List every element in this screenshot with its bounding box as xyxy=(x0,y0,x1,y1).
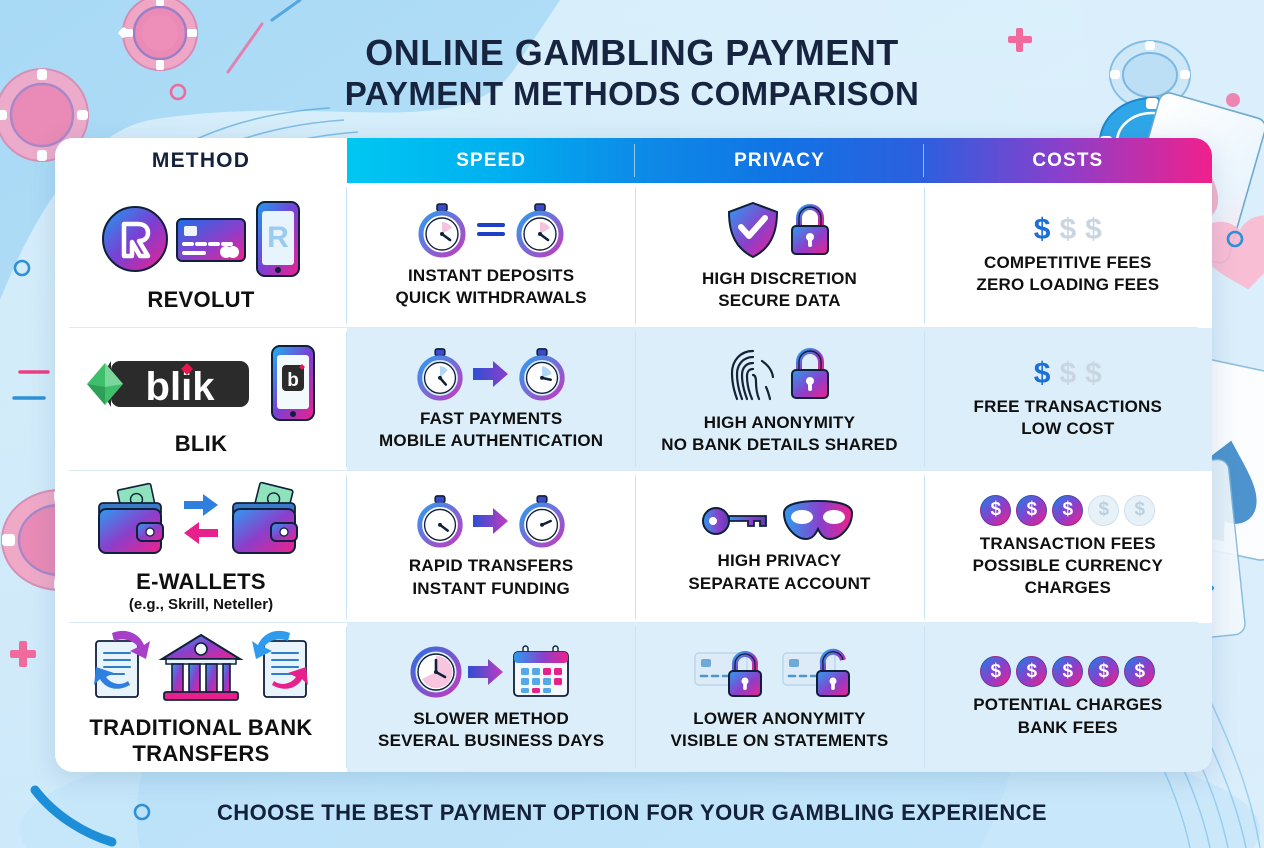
shield-check-icon xyxy=(724,199,782,261)
costs-cell-ewallets: $ $ $ $ $ TRANSACTION FEES POSSIBLE CURR… xyxy=(924,471,1212,623)
privacy-cell-bank-transfers: LOWER ANONYMITY VISIBLE ON STATEMENTS xyxy=(635,623,923,772)
padlock-icon xyxy=(786,344,834,404)
calendar-icon xyxy=(510,643,572,701)
title-line-2: PAYMENT METHODS COMPARISON xyxy=(0,74,1264,114)
privacy-icon-group xyxy=(693,643,865,701)
comparison-table: METHOD SPEED PRIVACY COSTS xyxy=(55,138,1212,772)
stopwatch-icon xyxy=(515,347,569,401)
speed-cell-bank-transfers: SLOWER METHOD SEVERAL BUSINESS DAYS xyxy=(347,623,635,772)
smartphone-icon: b xyxy=(269,343,317,423)
speed-line: SLOWER METHOD xyxy=(378,708,604,730)
dollar-sign-empty: $ xyxy=(1059,359,1076,389)
svg-text:R: R xyxy=(267,221,289,254)
costs-line: BANK FEES xyxy=(973,717,1162,739)
speed-text: SLOWER METHOD SEVERAL BUSINESS DAYS xyxy=(378,708,604,752)
privacy-cell-blik: HIGH ANONYMITY NO BANK DETAILS SHARED xyxy=(635,328,923,471)
costs-text: TRANSACTION FEES POSSIBLE CURRENCY CHARG… xyxy=(973,533,1163,599)
ewallet-icon-group xyxy=(91,481,311,561)
privacy-line: HIGH ANONYMITY xyxy=(661,412,897,434)
arrow-right-icon xyxy=(466,655,506,689)
dollar-sign-filled: $ xyxy=(1034,215,1051,245)
costs-line: POSSIBLE CURRENCY xyxy=(973,555,1163,577)
method-cell-blik: blik b BLIK xyxy=(55,328,347,471)
coin-empty: $ xyxy=(1088,495,1119,526)
speed-cell-revolut: INSTANT DEPOSITS QUICK WITHDRAWALS xyxy=(347,183,635,328)
method-subtitle: (e.g., Skrill, Neteller) xyxy=(129,596,273,613)
method-name: E-WALLETS xyxy=(136,569,266,595)
costs-line: TRANSACTION FEES xyxy=(973,533,1163,555)
arrow-right-icon xyxy=(471,504,511,538)
method-name: TRADITIONAL BANK TRANSFERS xyxy=(55,715,347,767)
fingerprint-icon xyxy=(724,343,782,405)
speed-icon-group xyxy=(413,494,569,548)
privacy-line: VISIBLE ON STATEMENTS xyxy=(671,730,889,752)
coin-empty: $ xyxy=(1124,495,1155,526)
revolut-logo-icon xyxy=(100,204,170,274)
stopwatch-icon xyxy=(515,494,569,548)
costs-text: POTENTIAL CHARGES BANK FEES xyxy=(973,694,1162,738)
title-line-1: ONLINE GAMBLING PAYMENT xyxy=(0,32,1264,74)
stopwatch-icon xyxy=(413,494,467,548)
costs-line: ZERO LOADING FEES xyxy=(976,274,1159,296)
speed-cell-blik: FAST PAYMENTS MOBILE AUTHENTICATION xyxy=(347,328,635,471)
method-cell-bank-transfers: TRADITIONAL BANK TRANSFERS xyxy=(55,623,347,772)
speed-line: INSTANT FUNDING xyxy=(409,578,574,600)
card-unlocked-icon xyxy=(781,643,865,701)
coin-filled: $ xyxy=(1088,656,1119,687)
svg-text:blik: blik xyxy=(146,365,216,409)
blik-icon-group: blik b xyxy=(85,343,317,423)
privacy-text: HIGH ANONYMITY NO BANK DETAILS SHARED xyxy=(661,412,897,456)
speed-text: INSTANT DEPOSITS QUICK WITHDRAWALS xyxy=(395,265,586,309)
costs-line: COMPETITIVE FEES xyxy=(976,252,1159,274)
speed-line: SEVERAL BUSINESS DAYS xyxy=(378,730,604,752)
bank-building-icon xyxy=(158,629,244,707)
dollar-sign-empty: $ xyxy=(1059,215,1076,245)
privacy-text: HIGH PRIVACY SEPARATE ACCOUNT xyxy=(688,550,870,594)
revolut-icon-group: R xyxy=(100,199,302,279)
privacy-icon-group xyxy=(724,343,834,405)
costs-text: FREE TRANSACTIONS LOW COST xyxy=(974,396,1163,440)
costs-cell-blik: $ $ $ FREE TRANSACTIONS LOW COST xyxy=(924,328,1212,471)
privacy-line: HIGH PRIVACY xyxy=(688,550,870,572)
clock-icon xyxy=(410,646,462,698)
coin-filled: $ xyxy=(1124,656,1155,687)
table-row: blik b BLIK xyxy=(55,328,1212,471)
costs-line: CHARGES xyxy=(973,577,1163,599)
privacy-cell-revolut: HIGH DISCRETION SECURE DATA xyxy=(635,183,923,328)
costs-line: POTENTIAL CHARGES xyxy=(973,694,1162,716)
coin-filled: $ xyxy=(980,495,1011,526)
padlock-icon xyxy=(786,200,834,260)
column-header-speed: SPEED xyxy=(347,138,635,183)
blik-logo-icon: blik xyxy=(85,347,265,419)
comparison-table-card: METHOD SPEED PRIVACY COSTS xyxy=(55,138,1212,772)
exchange-arrows-icon xyxy=(181,489,221,553)
costs-line: FREE TRANSACTIONS xyxy=(974,396,1163,418)
speed-text: FAST PAYMENTS MOBILE AUTHENTICATION xyxy=(379,408,603,452)
table-header-row: METHOD SPEED PRIVACY COSTS xyxy=(55,138,1212,183)
coin-filled: $ xyxy=(1016,656,1047,687)
table-row: E-WALLETS (e.g., Skrill, Neteller) xyxy=(55,471,1212,623)
stopwatch-icon xyxy=(512,202,568,258)
privacy-text: HIGH DISCRETION SECURE DATA xyxy=(702,268,857,312)
costs-text: COMPETITIVE FEES ZERO LOADING FEES xyxy=(976,252,1159,296)
footer-tagline: CHOOSE THE BEST PAYMENT OPTION FOR YOUR … xyxy=(0,800,1264,826)
method-cell-revolut: R REVOLUT xyxy=(55,183,347,328)
speed-icon-group xyxy=(414,202,568,258)
coin-filled: $ xyxy=(1016,495,1047,526)
document-icon xyxy=(248,629,314,707)
method-cell-ewallets: E-WALLETS (e.g., Skrill, Neteller) xyxy=(55,471,347,623)
key-icon xyxy=(700,501,774,541)
costs-cell-revolut: $ $ $ COMPETITIVE FEES ZERO LOADING FEES xyxy=(924,183,1212,328)
wallet-icon xyxy=(91,481,177,561)
page-title: ONLINE GAMBLING PAYMENT PAYMENT METHODS … xyxy=(0,32,1264,114)
dollar-sign-empty: $ xyxy=(1085,359,1102,389)
coin-filled: $ xyxy=(1052,656,1083,687)
svg-text:b: b xyxy=(287,370,299,391)
costs-cell-bank-transfers: $ $ $ $ $ POTENTIAL CHARGES BANK FEES xyxy=(924,623,1212,772)
costs-line: LOW COST xyxy=(974,418,1163,440)
speed-line: MOBILE AUTHENTICATION xyxy=(379,430,603,452)
speed-line: QUICK WITHDRAWALS xyxy=(395,287,586,309)
privacy-line: SEPARATE ACCOUNT xyxy=(688,573,870,595)
coin-filled: $ xyxy=(980,656,1011,687)
payment-card-icon xyxy=(174,209,250,269)
document-icon xyxy=(88,629,154,707)
method-name: REVOLUT xyxy=(147,287,254,313)
stopwatch-icon xyxy=(413,347,467,401)
speed-text: RAPID TRANSFERS INSTANT FUNDING xyxy=(409,555,574,599)
privacy-text: LOWER ANONYMITY VISIBLE ON STATEMENTS xyxy=(671,708,889,752)
privacy-line: LOWER ANONYMITY xyxy=(671,708,889,730)
privacy-icon-group xyxy=(700,499,858,543)
privacy-line: NO BANK DETAILS SHARED xyxy=(661,434,897,456)
column-header-costs: COSTS xyxy=(924,138,1212,183)
privacy-cell-ewallets: HIGH PRIVACY SEPARATE ACCOUNT xyxy=(635,471,923,623)
speed-line: FAST PAYMENTS xyxy=(379,408,603,430)
equals-icon xyxy=(474,215,508,245)
arrow-right-icon xyxy=(471,357,511,391)
smartphone-icon: R xyxy=(254,199,302,279)
dollar-sign-empty: $ xyxy=(1085,215,1102,245)
table-row: R REVOLUT xyxy=(55,183,1212,328)
speed-line: RAPID TRANSFERS xyxy=(409,555,574,577)
cost-indicator: $ $ $ $ $ xyxy=(980,495,1155,526)
table-row: TRADITIONAL BANK TRANSFERS xyxy=(55,623,1212,772)
card-locked-icon xyxy=(693,643,777,701)
wallet-icon xyxy=(225,481,311,561)
cost-indicator: $ $ $ xyxy=(1034,215,1102,245)
cost-indicator: $ $ $ xyxy=(1034,359,1102,389)
speed-line: INSTANT DEPOSITS xyxy=(395,265,586,287)
cost-indicator: $ $ $ $ $ xyxy=(980,656,1155,687)
method-name: BLIK xyxy=(175,431,228,457)
dollar-sign-filled: $ xyxy=(1034,359,1051,389)
mask-icon xyxy=(778,499,858,543)
speed-cell-ewallets: RAPID TRANSFERS INSTANT FUNDING xyxy=(347,471,635,623)
column-header-method: METHOD xyxy=(55,138,347,183)
bank-icon-group xyxy=(88,629,314,707)
stopwatch-icon xyxy=(414,202,470,258)
coin-filled: $ xyxy=(1052,495,1083,526)
privacy-icon-group xyxy=(724,199,834,261)
privacy-line: HIGH DISCRETION xyxy=(702,268,857,290)
speed-icon-group xyxy=(413,347,569,401)
speed-icon-group xyxy=(410,643,572,701)
privacy-line: SECURE DATA xyxy=(702,290,857,312)
column-header-privacy: PRIVACY xyxy=(635,138,923,183)
